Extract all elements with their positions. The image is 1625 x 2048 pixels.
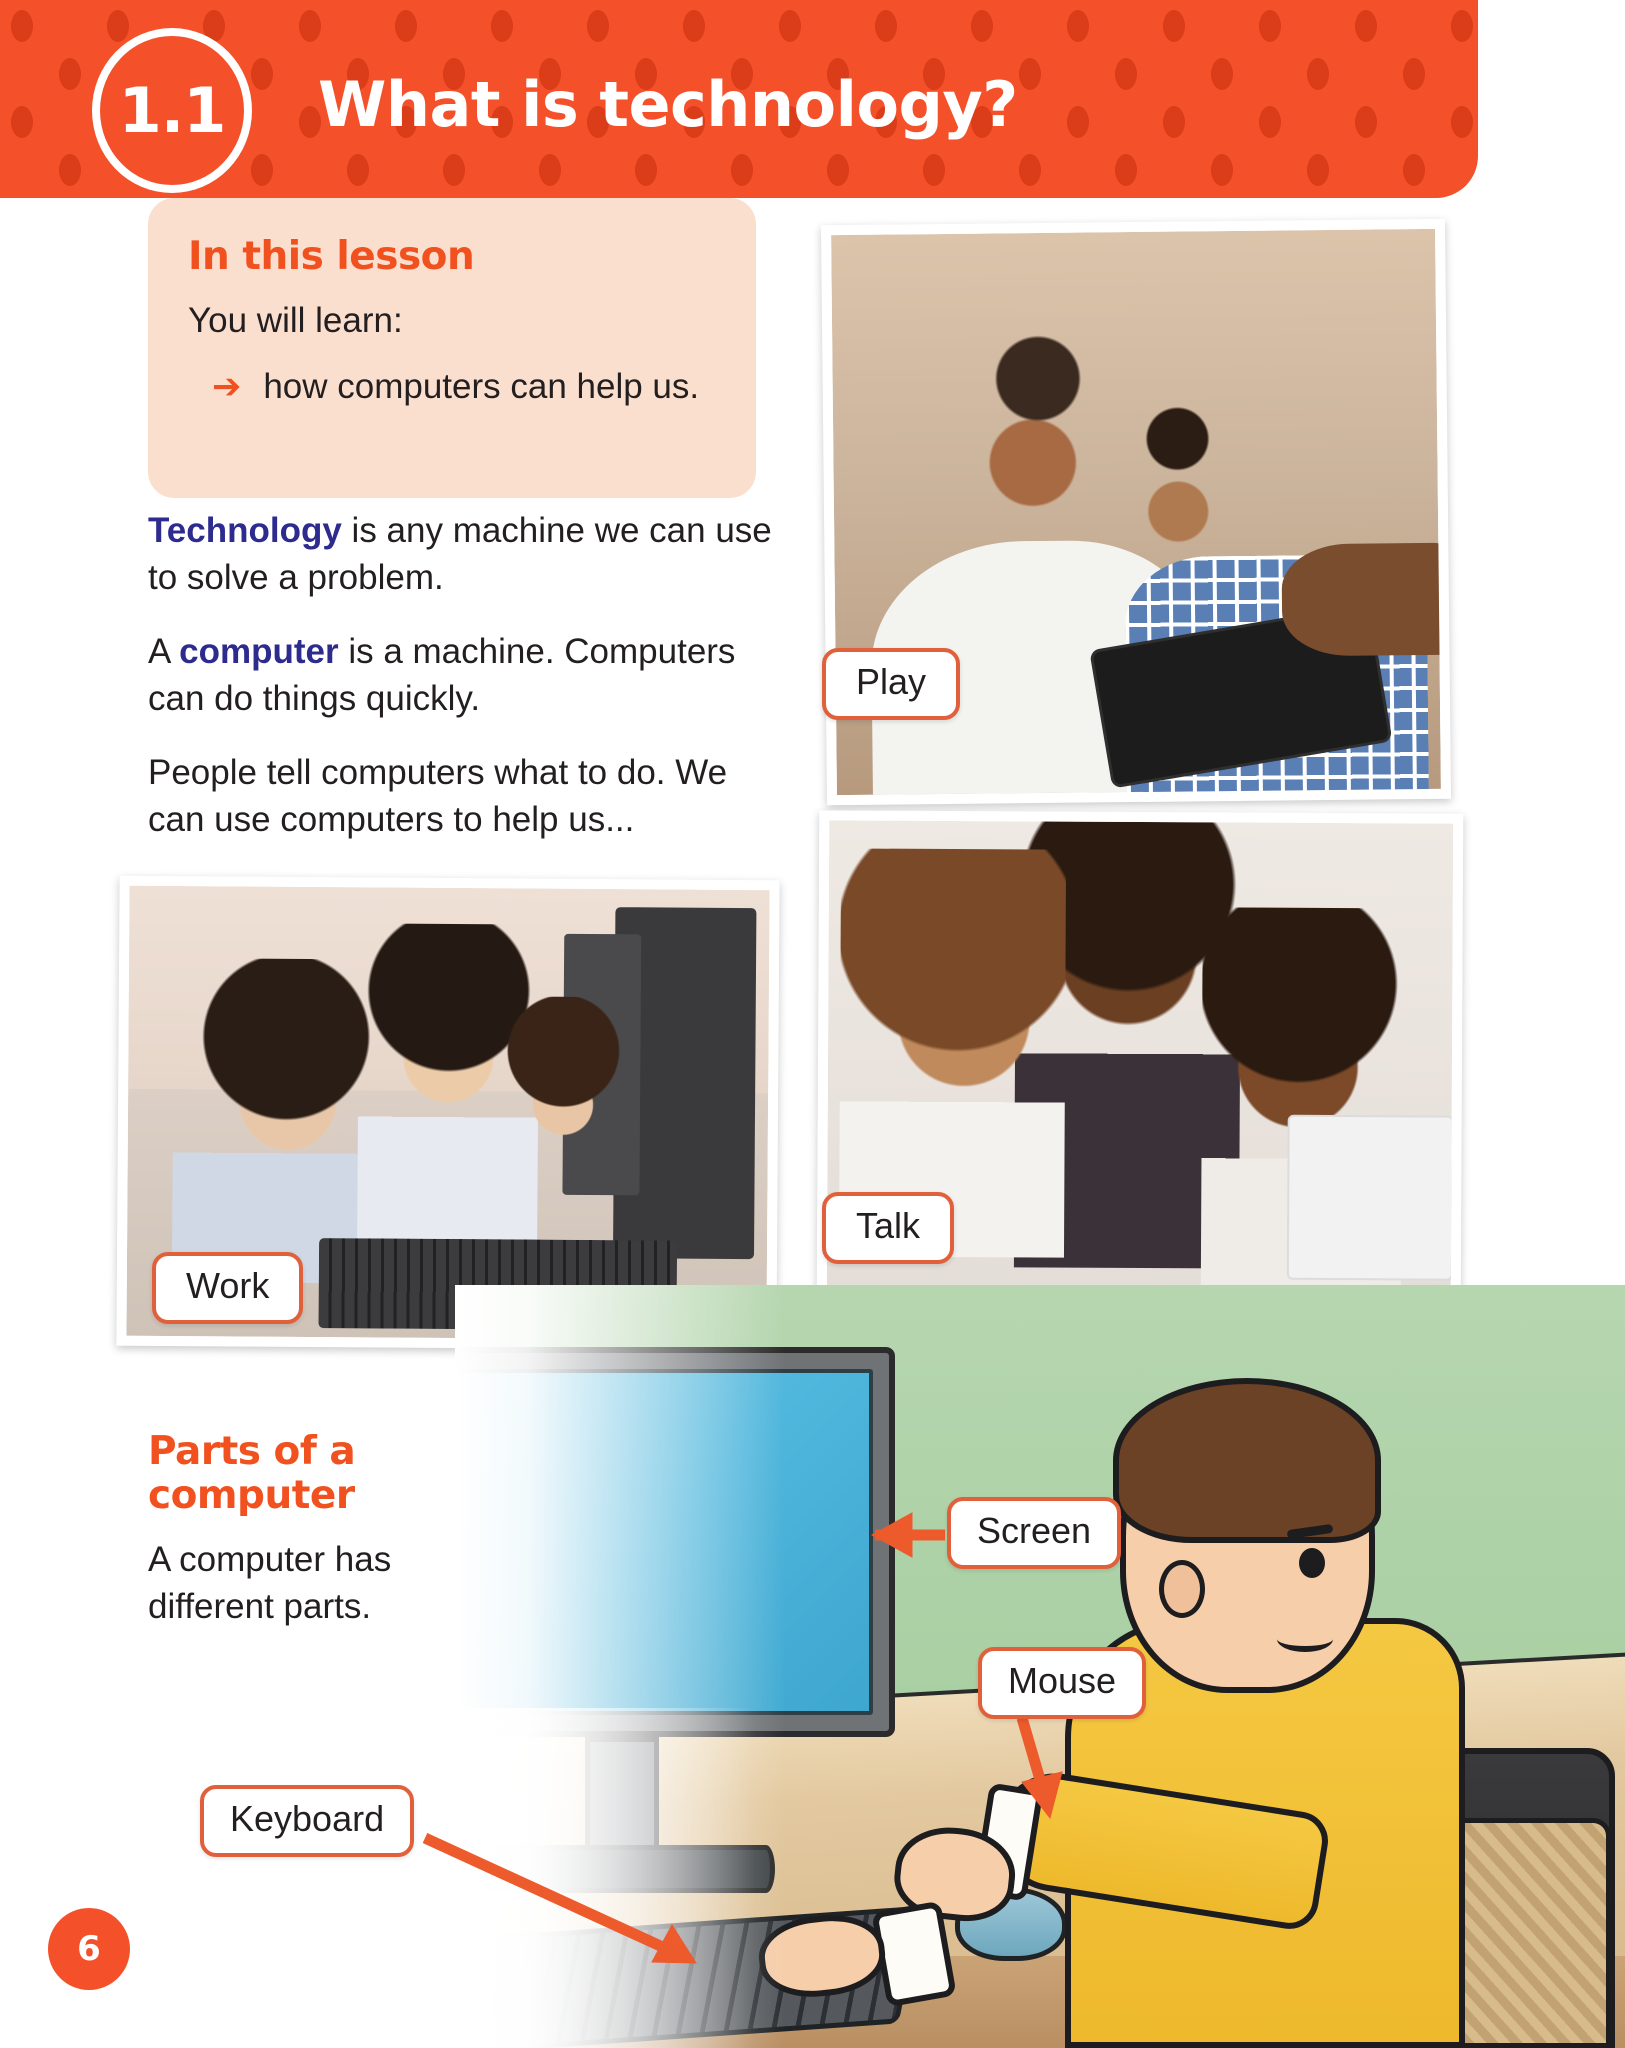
textbook-page: 1.1 What is technology? In this lesson Y… [0, 0, 1625, 2048]
student-girl-back [498, 996, 628, 1222]
chapter-number-badge: 1.1 [92, 28, 252, 193]
label-keyboard: Keyboard [200, 1785, 414, 1857]
in-this-lesson-box: In this lesson You will learn: ➔ how com… [148, 198, 756, 498]
paragraph-people-tell: People tell computers what to do. We can… [148, 750, 788, 843]
badge-work: Work [152, 1252, 303, 1324]
keyword-computer: computer [179, 632, 338, 671]
raised-arm [1281, 542, 1441, 656]
illustration-desk-fade [455, 1708, 755, 2048]
laptop-device [1289, 1117, 1452, 1279]
parts-heading-line1: Parts of a [148, 1429, 355, 1474]
label-mouse: Mouse [978, 1647, 1146, 1719]
parts-of-a-computer-section: Parts of acomputer A computer has differ… [148, 1430, 458, 1630]
boy-eye [1299, 1548, 1325, 1578]
page-number-badge: 6 [48, 1908, 130, 1990]
parts-description: A computer has different parts. [148, 1537, 458, 1630]
badge-talk: Talk [822, 1192, 954, 1264]
arrow-right-icon: ➔ [212, 370, 241, 405]
parts-heading: Parts of acomputer [148, 1430, 458, 1517]
parts-heading-line2: computer [148, 1473, 355, 1518]
lesson-box-lead: You will learn: [188, 301, 722, 341]
boy-ear [1159, 1560, 1205, 1618]
label-screen: Screen [947, 1497, 1121, 1569]
student-girl-front [172, 958, 379, 1283]
page-title: What is technology? [318, 68, 1018, 141]
chapter-number: 1.1 [119, 74, 226, 147]
paragraph-computer-prefix: A [148, 632, 179, 671]
paragraph-computer: A computer is a machine. Computers can d… [148, 629, 788, 722]
lesson-objective-text: how computers can help us. [263, 367, 699, 407]
badge-play: Play [822, 648, 960, 720]
body-text-column: Technology is any machine we can use to … [148, 508, 788, 871]
page-number: 6 [77, 1929, 101, 1969]
boy-hair [1113, 1378, 1381, 1543]
keyword-technology: Technology [148, 511, 342, 550]
boy-mouth [1277, 1626, 1333, 1652]
paragraph-technology: Technology is any machine we can use to … [148, 508, 788, 601]
lesson-objective-item: ➔ how computers can help us. [188, 367, 722, 407]
lesson-box-heading: In this lesson [188, 234, 722, 279]
